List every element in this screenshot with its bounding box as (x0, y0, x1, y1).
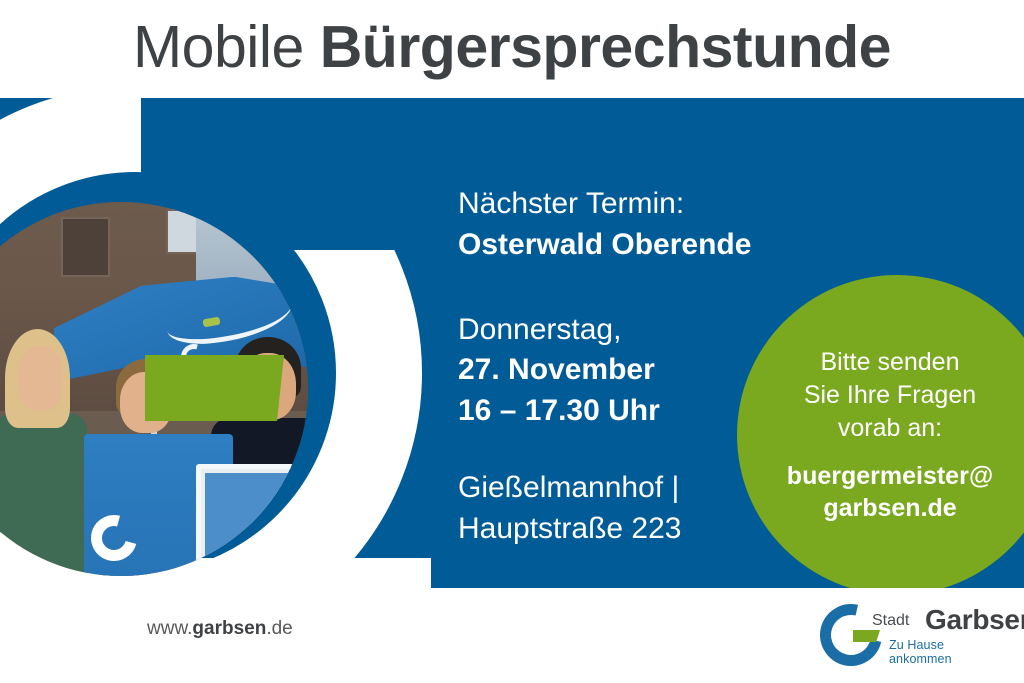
page-title-bold: Bürgersprechstunde (320, 14, 891, 80)
photo-banner-surface (205, 473, 308, 567)
event-weekday: Donnerstag, (458, 310, 758, 351)
blue-panel: BÜR Nächster Termin: Osterwald Oberende … (0, 98, 1024, 588)
event-details: Nächster Termin: Osterwald Oberende Donn… (458, 184, 758, 550)
event-date: 27. November (458, 350, 758, 391)
poster-footer: www.garbsen.de Stadt Garbsen Zu Hause an… (0, 588, 1024, 683)
photo-person-2-head (18, 346, 63, 410)
page-title-light: Mobile (133, 14, 304, 80)
poster-canvas: Mobile Bürgersprechstunde (0, 0, 1024, 683)
garbsen-logo[interactable]: Stadt Garbsen Zu Hause ankommen (820, 598, 1010, 668)
page-title: Mobile Bürgersprechstunde (133, 18, 891, 81)
callout-email-line-1[interactable]: buergermeister@ (740, 461, 1024, 493)
spacer-1 (458, 266, 758, 310)
spacer-3 (740, 445, 1024, 461)
website-url[interactable]: www.garbsen.de (147, 618, 293, 640)
logo-garbsen-label: Garbsen (925, 604, 1024, 636)
website-prefix: www. (147, 618, 192, 639)
event-address-line2: Hauptstraße 223 (458, 509, 758, 550)
email-callout-circle: Bitte senden Sie Ihre Fragen vorab an: b… (737, 275, 1024, 588)
event-location: Osterwald Oberende (458, 225, 758, 266)
website-suffix: .de (266, 618, 292, 639)
email-callout-content: Bitte senden Sie Ihre Fragen vorab an: b… (740, 346, 1024, 524)
callout-email-line-2[interactable]: garbsen.de (740, 493, 1024, 525)
garbsen-g-ring (808, 592, 893, 677)
photo-banner-text: BÜR (222, 547, 245, 557)
website-name: garbsen (192, 618, 266, 639)
event-address-line1: Gießelmannhof | (458, 468, 758, 509)
poster-header: Mobile Bürgersprechstunde (0, 0, 1024, 98)
event-intro-label: Nächster Termin: (458, 184, 758, 225)
logo-tagline: Zu Hause ankommen (889, 638, 1010, 666)
callout-line-2: Sie Ihre Fragen (740, 379, 1024, 412)
photo-person-2 (0, 329, 87, 576)
callout-line-1: Bitte senden (740, 346, 1024, 379)
photo-sky (196, 202, 308, 292)
garbsen-g-bar-decoration (145, 355, 284, 421)
callout-line-3: vorab an: (740, 412, 1024, 445)
logo-stadt-label: Stadt (872, 612, 909, 630)
photo-person-2-body (0, 413, 87, 576)
garbsen-g-green-bar (853, 630, 880, 642)
spacer-2 (458, 432, 758, 468)
event-time: 16 – 17.30 Uhr (458, 391, 758, 432)
photo-window-1 (61, 217, 110, 277)
photo-banner: BÜR (196, 464, 308, 576)
